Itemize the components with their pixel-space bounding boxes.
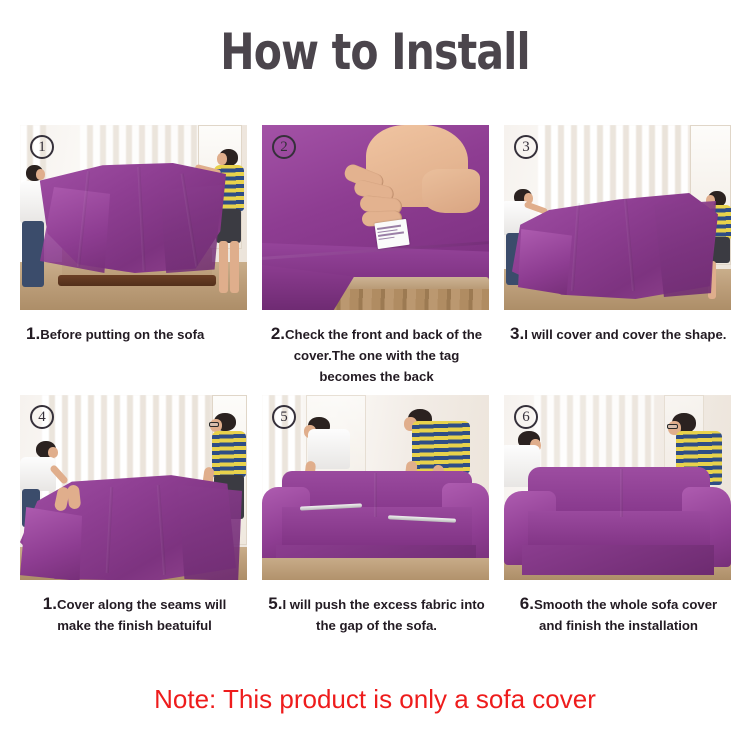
step-card-6: 6 6.Smooth the whole sofa cover and fini… — [504, 395, 731, 636]
step-number: 2. — [271, 324, 285, 343]
step-caption-4: 1.Cover along the seams will make the fi… — [20, 580, 247, 636]
step-text: I will cover and cover the shape. — [524, 327, 726, 342]
step-caption-2: 2.Check the front and back of the cover.… — [262, 310, 489, 387]
step-card-5: 5 5.I will push the excess fabric into t… — [262, 395, 489, 636]
step-number: 5. — [268, 594, 282, 613]
step-caption-5: 5.I will push the excess fabric into the… — [262, 580, 489, 636]
step-photo-5: 5 — [262, 395, 489, 580]
step-photo-6: 6 — [504, 395, 731, 580]
step-badge: 1 — [30, 135, 54, 159]
step-caption-3: 3.I will cover and cover the shape. — [504, 310, 731, 345]
step-card-2: 2 2.Check the front and back of the cove… — [262, 125, 489, 387]
how-to-install-infographic: How to Install — [0, 0, 750, 750]
step-photo-4: 4 — [20, 395, 247, 580]
step-caption-6: 6.Smooth the whole sofa cover and finish… — [504, 580, 731, 636]
steps-row-top: 1 1.Before putting on the sofa — [20, 125, 732, 387]
step-badge: 3 — [514, 135, 538, 159]
step-caption-1: 1.Before putting on the sofa — [20, 310, 247, 345]
step-text: Before putting on the sofa — [40, 327, 204, 342]
step-number: 1. — [43, 594, 57, 613]
step-number: 3. — [510, 324, 524, 343]
step-badge: 6 — [514, 405, 538, 429]
step-badge: 5 — [272, 405, 296, 429]
page-title: How to Install — [68, 0, 683, 80]
step-photo-1: 1 — [20, 125, 247, 310]
step-badge: 2 — [272, 135, 296, 159]
step-badge: 4 — [30, 405, 54, 429]
step-text: Cover along the seams will make the fini… — [57, 597, 226, 633]
steps-row-bottom: 4 1.Cover along the seams will make the … — [20, 395, 732, 636]
step-photo-2: 2 — [262, 125, 489, 310]
care-tag — [374, 219, 409, 249]
step-card-3: 3 3.I will cover and cover the shape. — [504, 125, 731, 387]
step-text: Smooth the whole sofa cover and finish t… — [534, 597, 717, 633]
step-text: I will push the excess fabric into the g… — [282, 597, 484, 633]
step-number: 6. — [520, 594, 534, 613]
step-card-4: 4 1.Cover along the seams will make the … — [20, 395, 247, 636]
step-text: Check the front and back of the cover.Th… — [285, 327, 482, 384]
step-card-1: 1 1.Before putting on the sofa — [20, 125, 247, 387]
step-photo-3: 3 — [504, 125, 731, 310]
product-note: Note: This product is only a sofa cover — [0, 684, 750, 715]
steps-grid: 1 1.Before putting on the sofa — [20, 125, 732, 636]
step-number: 1. — [26, 324, 40, 343]
